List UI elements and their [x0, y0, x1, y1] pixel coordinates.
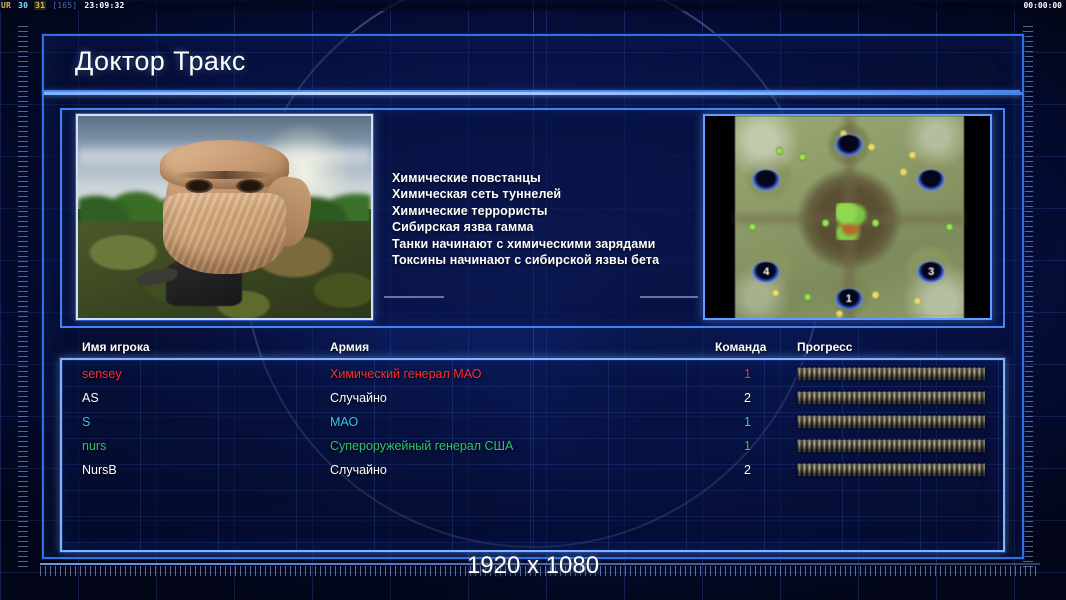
briefing-line: Токсины начинают с сибирской язвы бета: [392, 252, 702, 268]
briefing-line: Сибирская язва гамма: [392, 219, 702, 235]
status-clock: 23:09:32: [83, 1, 125, 10]
map-center-props: [836, 203, 868, 240]
progress-bar: [797, 439, 985, 452]
cell-team[interactable]: 1: [744, 434, 751, 458]
status-value-1: 30: [17, 1, 29, 10]
column-header-progress: Прогресс: [797, 340, 852, 354]
briefing-line: Танки начинают с химическими зарядами: [392, 236, 702, 252]
map-spawn-point[interactable]: [918, 170, 944, 190]
table-row[interactable]: NursBСлучайно2: [60, 458, 1005, 482]
cell-army[interactable]: Случайно: [330, 386, 387, 410]
table-row[interactable]: SМАО1: [60, 410, 1005, 434]
cell-army[interactable]: Супероружейный генерал США: [330, 434, 513, 458]
map-scanline: [735, 315, 964, 316]
cell-army[interactable]: Случайно: [330, 458, 387, 482]
map-spawn-point[interactable]: [753, 170, 779, 190]
briefing-line: Химические повстанцы: [392, 170, 702, 186]
table-row[interactable]: ASСлучайно2: [60, 386, 1005, 410]
cell-team[interactable]: 2: [744, 458, 751, 482]
status-tag: UR: [0, 1, 12, 10]
status-value-2: 31: [34, 1, 46, 10]
progress-bar: [797, 415, 985, 428]
map-spawn-point-1[interactable]: 1: [836, 289, 862, 309]
briefing-line: Химические террористы: [392, 203, 702, 219]
cell-player-name: S: [82, 410, 90, 434]
status-bracket: [165]: [51, 1, 78, 10]
briefing-line: Химическая сеть туннелей: [392, 186, 702, 202]
portrait-facemask: [163, 193, 286, 274]
resolution-label: 1920 x 1080: [0, 552, 1066, 580]
progress-bar: [797, 463, 985, 476]
column-header-team: Команда: [715, 340, 766, 354]
map-spawn-point[interactable]: [836, 135, 862, 155]
ruler-right: [1023, 26, 1033, 571]
portrait-eye-right: [236, 179, 264, 193]
column-header-player: Имя игрока: [82, 340, 150, 354]
progress-bar: [797, 367, 985, 380]
cell-army[interactable]: МАО: [330, 410, 358, 434]
cell-army[interactable]: Химический генерал МАО: [330, 362, 481, 386]
briefing-accent-left: [384, 296, 444, 298]
table-row[interactable]: nursСупероружейный генерал США1: [60, 434, 1005, 458]
title-divider: [44, 92, 1022, 95]
player-table-header: Имя игрока Армия Команда Прогресс: [60, 340, 1005, 360]
status-timer: 00:00:00: [1023, 0, 1062, 11]
portrait-brow: [175, 171, 275, 179]
briefing-accent-right: [640, 296, 698, 298]
cell-player-name: sensey: [82, 362, 122, 386]
cell-player-name: nurs: [82, 434, 106, 458]
player-row-list: senseyХимический генерал МАО1ASСлучайно2…: [60, 362, 1005, 492]
portrait-eye-left: [185, 179, 213, 193]
cell-player-name: AS: [82, 386, 99, 410]
page-title: Доктор Тракс: [75, 46, 246, 77]
map-preview[interactable]: 4 3 1: [703, 114, 992, 320]
briefing-text: Химические повстанцы Химическая сеть тун…: [392, 170, 702, 268]
portrait-eyes: [183, 179, 265, 193]
cell-team[interactable]: 1: [744, 362, 751, 386]
column-header-army: Армия: [330, 340, 369, 354]
ruler-left: [18, 26, 28, 571]
debug-status-bar: UR 30 31 [165] 23:09:32: [0, 0, 1066, 11]
progress-bar: [797, 391, 985, 404]
cell-team[interactable]: 1: [744, 410, 751, 434]
map-terrain: 4 3 1: [735, 116, 964, 320]
game-lobby-screen: UR 30 31 [165] 23:09:32 00:00:00 Доктор …: [0, 0, 1066, 600]
portrait-artwork: [78, 116, 371, 318]
cell-player-name: NursB: [82, 458, 117, 482]
general-portrait: [76, 114, 373, 320]
table-row[interactable]: senseyХимический генерал МАО1: [60, 362, 1005, 386]
cell-team[interactable]: 2: [744, 386, 751, 410]
